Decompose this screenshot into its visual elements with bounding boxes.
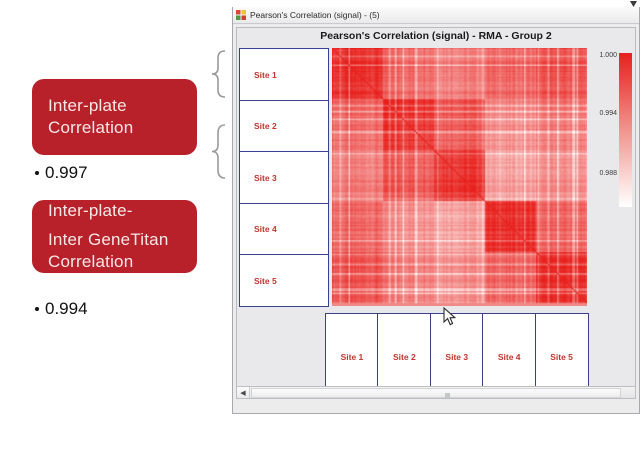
legend-tick-label: 1.000 bbox=[599, 52, 617, 59]
scrollbar-grip-icon bbox=[445, 393, 450, 398]
column-label-text: Site 2 bbox=[393, 352, 416, 362]
value-text: 0.994 bbox=[45, 299, 88, 318]
brace-bracket-icon bbox=[203, 50, 231, 98]
legend-tick-label: 0.988 bbox=[599, 170, 617, 177]
chart-client-area: Pearson's Correlation (signal) - RMA - G… bbox=[236, 27, 636, 393]
column-label-cell[interactable]: Site 3 bbox=[430, 313, 484, 393]
row-label-text: Site 2 bbox=[240, 121, 277, 131]
column-label-text: Site 4 bbox=[498, 352, 521, 362]
bullet-dot-icon bbox=[35, 307, 39, 311]
row-label-cell[interactable]: Site 3 bbox=[239, 151, 329, 204]
row-label-text: Site 5 bbox=[240, 276, 277, 286]
bullet-dot-icon bbox=[35, 171, 39, 175]
legend-tick-label: 0.994 bbox=[599, 110, 617, 117]
inter-plate-correlation-value: 0.997 bbox=[35, 163, 88, 183]
window-title-text: Pearson's Correlation (signal) - (5) bbox=[250, 10, 380, 20]
legend-gradient-bar bbox=[619, 53, 632, 207]
callout-line: Correlation bbox=[48, 117, 181, 139]
row-label-text: Site 4 bbox=[240, 224, 277, 234]
row-label-cell[interactable]: Site 2 bbox=[239, 100, 329, 153]
row-label-text: Site 1 bbox=[240, 70, 277, 80]
row-label-cell[interactable]: Site 4 bbox=[239, 203, 329, 256]
column-label-cell[interactable]: Site 5 bbox=[535, 313, 589, 393]
chart-title: Pearson's Correlation (signal) - RMA - G… bbox=[237, 30, 635, 42]
scroll-left-arrow-icon[interactable]: ◀ bbox=[237, 387, 250, 398]
app-grid-icon bbox=[236, 10, 246, 20]
row-label-cell[interactable]: Site 1 bbox=[239, 48, 329, 101]
scrollbar-thumb[interactable] bbox=[251, 388, 621, 398]
value-text: 0.997 bbox=[45, 163, 88, 182]
callout-line: Correlation bbox=[48, 251, 181, 273]
row-label-text: Site 3 bbox=[240, 173, 277, 183]
column-label-cell[interactable]: Site 4 bbox=[482, 313, 536, 393]
column-label-text: Site 5 bbox=[550, 352, 573, 362]
callout-line: Inter-plate- bbox=[48, 200, 181, 222]
inter-genetitan-correlation-value: 0.994 bbox=[35, 299, 88, 319]
callout-inter-plate-correlation: Inter-plate Correlation bbox=[32, 79, 197, 155]
brace-bracket-icon bbox=[203, 124, 231, 179]
column-label-cell[interactable]: Site 2 bbox=[377, 313, 431, 393]
horizontal-scrollbar[interactable]: ◀ bbox=[236, 386, 636, 399]
row-label-column: Site 1 Site 2 Site 3 Site 4 Site 5 bbox=[239, 48, 329, 306]
window-title-bar[interactable]: Pearson's Correlation (signal) - (5) bbox=[233, 7, 639, 24]
row-label-cell[interactable]: Site 5 bbox=[239, 254, 329, 307]
callout-line: Inter GeneTitan bbox=[48, 229, 181, 251]
corner-marker-icon bbox=[630, 1, 637, 8]
color-legend: 1.000 0.994 0.988 bbox=[592, 50, 634, 240]
column-label-text: Site 1 bbox=[341, 352, 364, 362]
callout-line: Inter-plate bbox=[48, 95, 181, 117]
correlation-heatmap[interactable] bbox=[332, 48, 587, 306]
heatmap-canvas[interactable] bbox=[332, 48, 587, 306]
column-label-text: Site 3 bbox=[445, 352, 468, 362]
application-window: Pearson's Correlation (signal) - (5) Pea… bbox=[232, 7, 640, 414]
callout-inter-genetitan-correlation: Inter-plate- Inter GeneTitan Correlation bbox=[32, 200, 197, 273]
legend-tick-labels: 1.000 0.994 0.988 bbox=[592, 50, 618, 240]
column-label-cell[interactable]: Site 1 bbox=[325, 313, 379, 393]
column-label-row: Site 1 Site 2 Site 3 Site 4 Site 5 bbox=[325, 313, 587, 393]
